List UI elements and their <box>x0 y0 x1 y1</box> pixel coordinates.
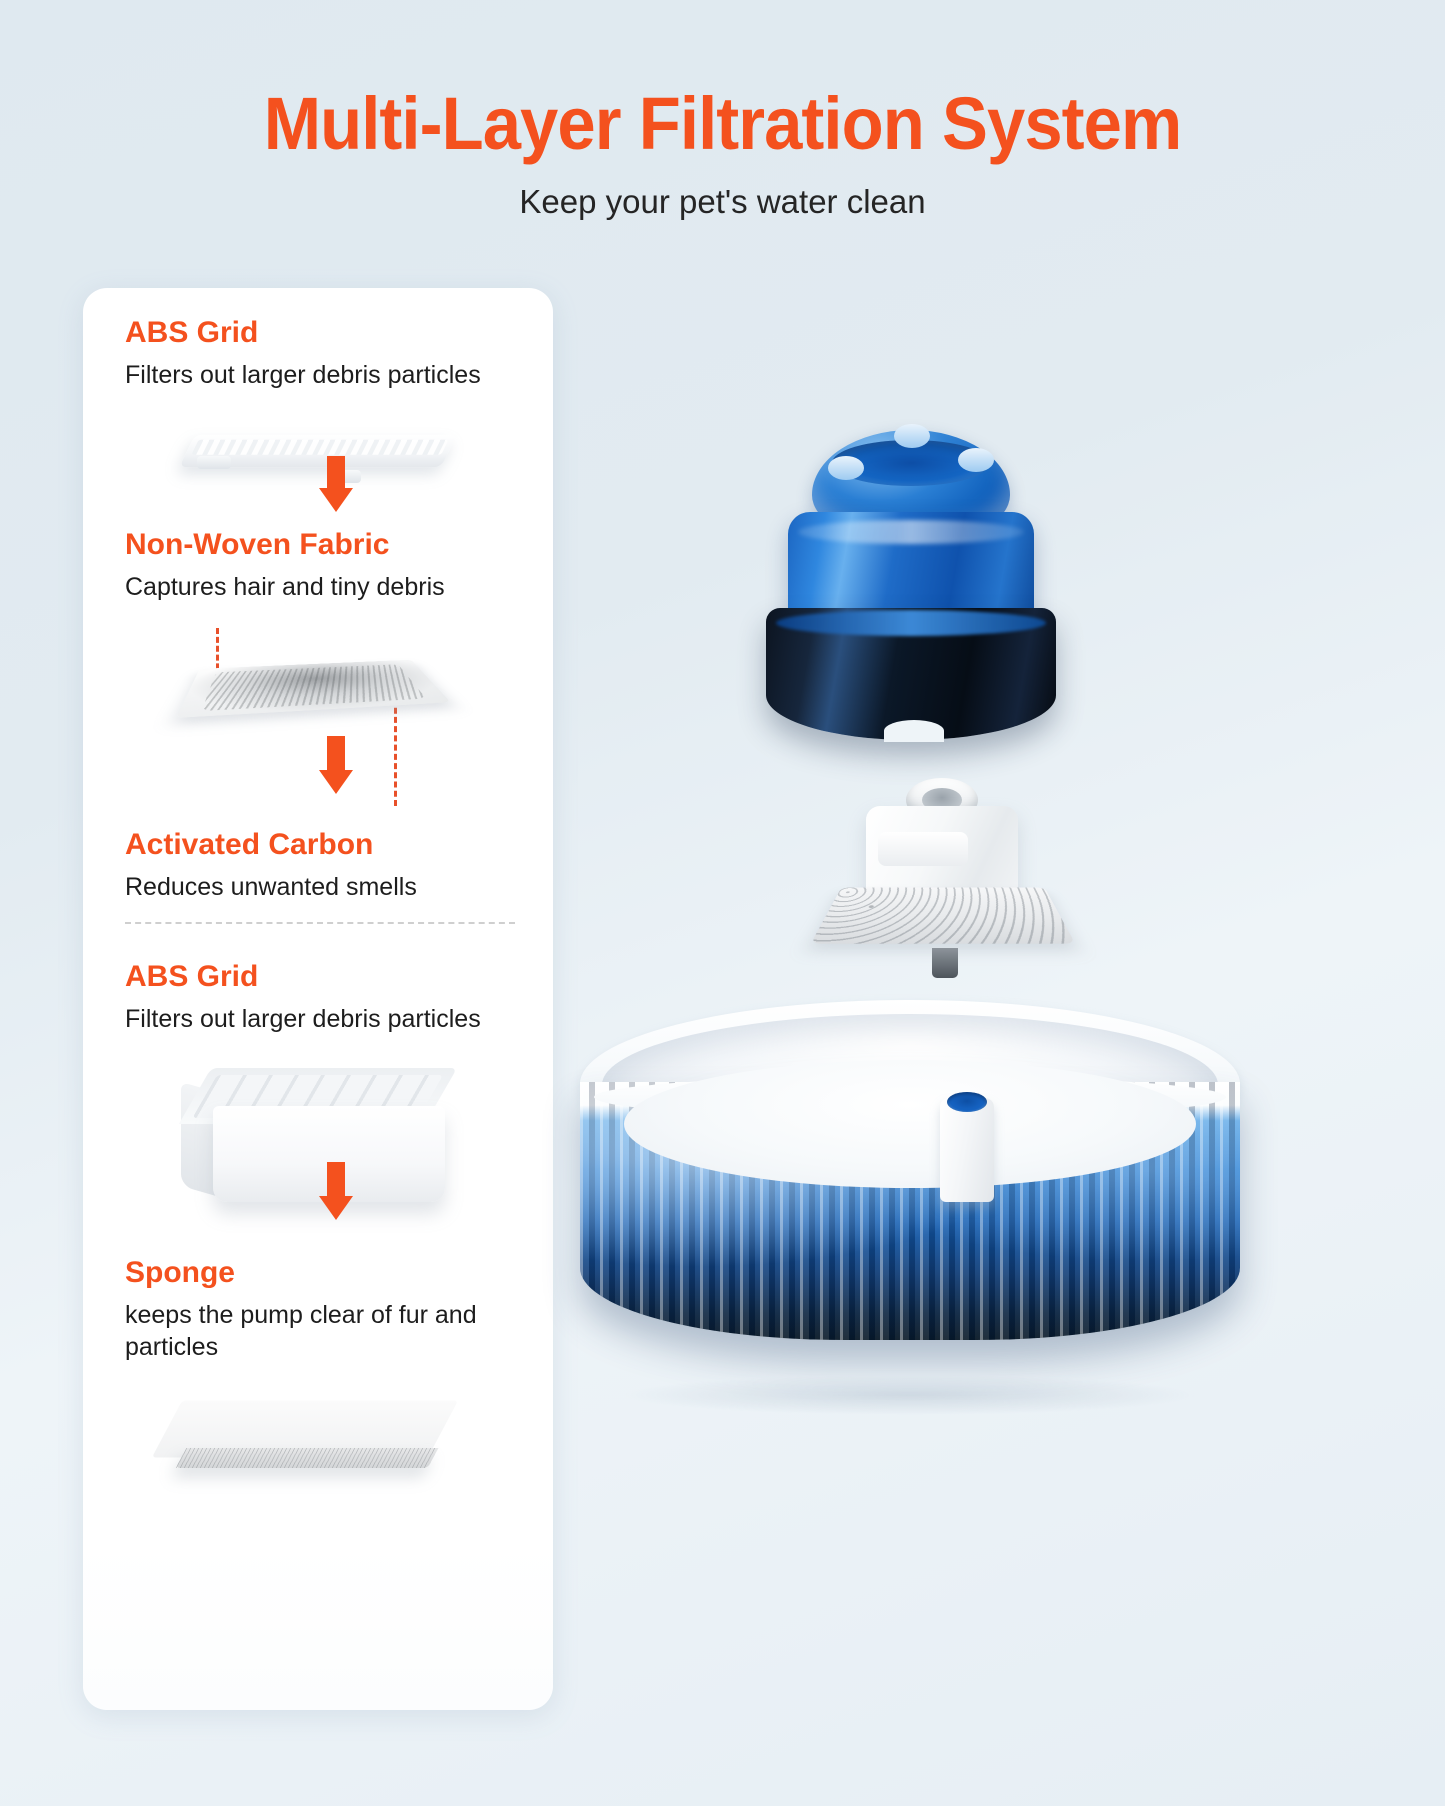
pump-foam-filter <box>811 888 1076 944</box>
flow-arrow-1 <box>319 456 353 512</box>
page-subtitle: Keep your pet's water clean <box>0 183 1445 221</box>
abs-grid-plate-illustration <box>187 426 449 488</box>
grid-tab-left <box>197 456 231 469</box>
ground-shadow <box>620 1375 1200 1415</box>
layer-description: Captures hair and tiny debris <box>125 571 545 603</box>
product-exploded-view <box>560 400 1260 1470</box>
layer-title: Activated Carbon <box>125 828 545 863</box>
non-woven-pad-illustration <box>193 636 433 732</box>
layer-description: Reduces unwanted smells <box>125 871 545 903</box>
layer-description: keeps the pump clear of fur and particle… <box>125 1299 545 1363</box>
sponge-slab-illustration <box>167 1398 443 1490</box>
pump-stem <box>932 948 958 978</box>
ceramic-bowl <box>580 1000 1240 1410</box>
layer-title: Sponge <box>125 1256 545 1291</box>
header: Multi-Layer Filtration System Keep your … <box>0 0 1445 221</box>
page-title: Multi-Layer Filtration System <box>51 86 1395 161</box>
layer-description: Filters out larger debris particles <box>125 1003 545 1035</box>
layer-item-activated-carbon: Activated Carbon Reduces unwanted smells <box>125 828 545 903</box>
pump-assembly <box>828 778 1058 998</box>
flow-arrow-3 <box>319 1162 353 1220</box>
bowl-floor <box>624 1060 1196 1188</box>
flow-arrow-2 <box>319 736 353 794</box>
lid-dark-base <box>766 608 1056 740</box>
layer-item-abs-grid-1: ABS Grid Filters out larger debris parti… <box>125 316 545 391</box>
layer-item-sponge: Sponge keeps the pump clear of fur and p… <box>125 1256 545 1363</box>
layer-title: ABS Grid <box>125 960 545 995</box>
layer-description: Filters out larger debris particles <box>125 359 545 391</box>
layer-item-non-woven: Non-Woven Fabric Captures hair and tiny … <box>125 528 545 603</box>
filtration-layers-card: ABS Grid Filters out larger debris parti… <box>83 288 553 1710</box>
layer-title: ABS Grid <box>125 316 545 351</box>
layer-title: Non-Woven Fabric <box>125 528 545 563</box>
section-divider <box>125 922 515 924</box>
abs-grid-box-illustration <box>173 1068 463 1220</box>
fountain-lid <box>760 430 1060 760</box>
layer-item-abs-grid-2: ABS Grid Filters out larger debris parti… <box>125 960 545 1035</box>
bowl-spout-tube <box>940 1098 994 1202</box>
